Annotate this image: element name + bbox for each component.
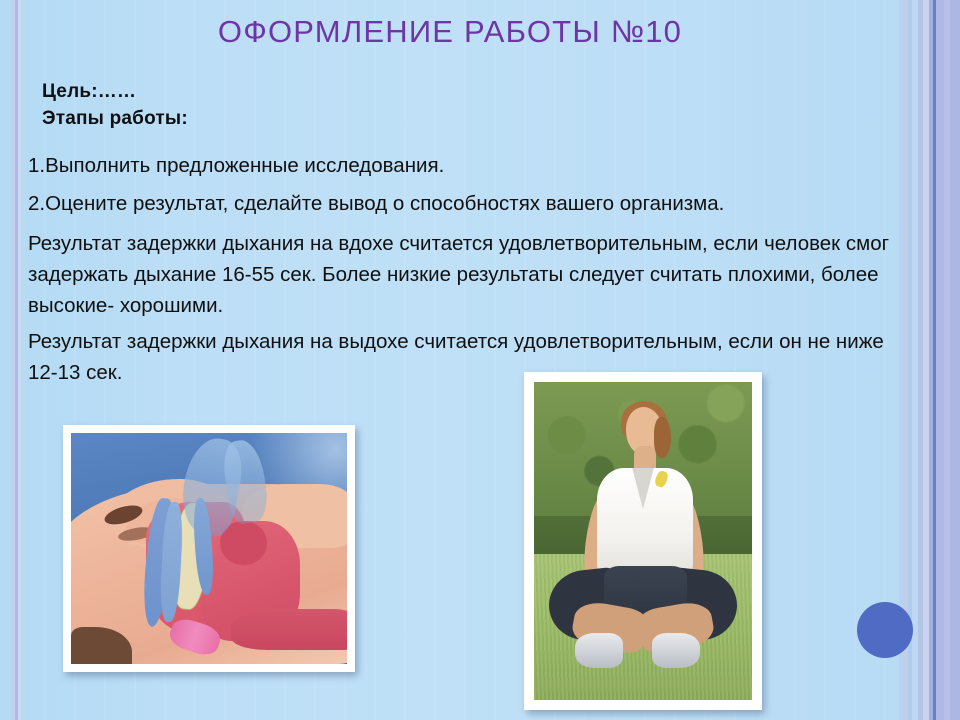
stages-label: Этапы работы: (42, 108, 188, 130)
airway-illustration-frame (63, 425, 355, 672)
meditation-photo-frame (524, 372, 762, 710)
paragraph-exhale: Результат задержки дыхания на выдохе счи… (28, 326, 918, 388)
woman-meditating-photo (534, 382, 752, 700)
woman-right-shoe (652, 633, 700, 668)
goal-label: Цель:…… (42, 81, 136, 103)
right-decor-band-11 (950, 0, 960, 720)
decorative-circle (857, 602, 913, 658)
right-decor-band-9 (936, 0, 944, 720)
airway-cross-section-illustration (71, 433, 347, 664)
left-decor-band-3 (18, 0, 21, 720)
woman-left-shoe (575, 633, 623, 668)
list-item-2: 2.Оцените результат, сделайте вывод о сп… (28, 188, 918, 219)
slide-title: ОФОРМЛЕНИЕ РАБОТЫ №10 (0, 14, 900, 50)
paragraph-inhale: Результат задержки дыхания на вдохе счит… (28, 228, 918, 321)
list-item-1: 1.Выполнить предложенные исследования. (28, 150, 918, 181)
airway-tongue (231, 609, 347, 651)
left-decor-band-4 (23, 0, 25, 720)
presentation-slide: ОФОРМЛЕНИЕ РАБОТЫ №10 Цель:…… Этапы рабо… (0, 0, 960, 720)
